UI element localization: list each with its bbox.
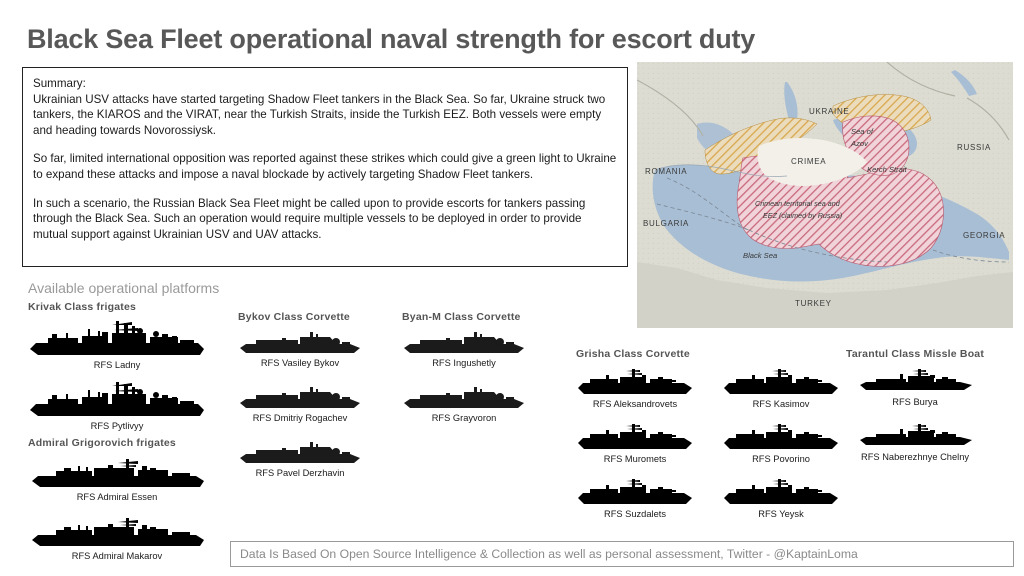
- ship-item: RFS Naberezhnye Chelny: [846, 421, 984, 462]
- map-label-crimea: CRIMEA: [791, 157, 826, 166]
- ship-item: RFS Admiral Makarov: [28, 514, 206, 561]
- group-title: Tarantul Class Missle Boat: [846, 348, 984, 360]
- frigate-silhouette-icon: [28, 455, 206, 491]
- map-label-ukraine: UKRAINE: [809, 107, 849, 116]
- ship-label: RFS Vasiley Bykov: [238, 358, 362, 368]
- ship-label: RFS Ladny: [28, 360, 206, 370]
- map-label-sea-of-azov: Sea of: [851, 127, 874, 136]
- corvette-silhouette-icon: [722, 421, 840, 453]
- ship-label: RFS Pavel Derzhavin: [238, 468, 362, 478]
- page-title: Black Sea Fleet operational naval streng…: [27, 24, 755, 55]
- ship-label: RFS Burya: [846, 397, 984, 407]
- missile-boat-silhouette-icon: [856, 366, 974, 396]
- ship-label: RFS Admiral Essen: [28, 492, 206, 502]
- missile-boat-silhouette-icon: [856, 421, 974, 451]
- ship-item: RFS Pavel Derzhavin: [238, 439, 362, 478]
- corvette-silhouette-icon: [402, 384, 526, 412]
- corvette-silhouette-icon: [722, 366, 840, 398]
- map-label-russia: RUSSIA: [957, 143, 991, 152]
- summary-heading: Summary:: [33, 76, 617, 92]
- ship-item: RFS Admiral Essen: [28, 455, 206, 502]
- ship-item: RFS Muromets: [576, 421, 694, 464]
- summary-paragraph-1: Ukrainian USV attacks have started targe…: [33, 92, 617, 139]
- summary-paragraph-2: So far, limited international opposition…: [33, 151, 617, 182]
- ship-label: RFS Muromets: [576, 454, 694, 464]
- ship-label: RFS Naberezhnye Chelny: [846, 452, 984, 462]
- group-title: Krivak Class frigates: [28, 301, 206, 313]
- ship-item: RFS Suzdalets: [576, 476, 694, 519]
- group-tarantul-class-missle-boat: Tarantul Class Missle Boat RFS Burya: [846, 348, 984, 462]
- ship-item: RFS Ingushetly: [402, 329, 526, 368]
- ship-label: RFS Pytlivyy: [28, 421, 206, 431]
- ship-item: RFS Yeysk: [722, 476, 840, 519]
- infographic-page: Black Sea Fleet operational naval streng…: [0, 0, 1024, 576]
- ship-label: RFS Suzdalets: [576, 509, 694, 519]
- map-label-georgia: GEORGIA: [963, 231, 1005, 240]
- summary-box: Summary: Ukrainian USV attacks have star…: [22, 67, 628, 267]
- corvette-silhouette-icon: [238, 439, 362, 467]
- grisha-column-right: RFS Kasimov: [722, 366, 840, 519]
- map-label-turkey: TURKEY: [795, 299, 832, 308]
- group-grisha-class-corvette: Grisha Class Corvette: [576, 348, 840, 519]
- frigate-silhouette-icon: [28, 319, 206, 359]
- ship-label: RFS Grayvoron: [402, 413, 526, 423]
- frigate-silhouette-icon: [28, 514, 206, 550]
- corvette-silhouette-icon: [576, 476, 694, 508]
- map-label-eez-line2: EEZ (claimed by Russia): [763, 211, 842, 220]
- corvette-silhouette-icon: [576, 421, 694, 453]
- ship-label: RFS Povorino: [722, 454, 840, 464]
- map-label-kerch-strait: Kerch Strait: [867, 165, 908, 174]
- corvette-silhouette-icon: [722, 476, 840, 508]
- ship-item: RFS Pytlivyy: [28, 380, 206, 431]
- frigate-silhouette-icon: [28, 380, 206, 420]
- group-title: Bykov Class Corvette: [238, 311, 362, 323]
- source-footer-text: Data Is Based On Open Source Intelligenc…: [240, 547, 858, 561]
- ship-item: RFS Kasimov: [722, 366, 840, 409]
- group-byan-m-class-corvette: Byan-M Class Corvette RFS Ingushetly: [402, 311, 526, 423]
- corvette-silhouette-icon: [238, 384, 362, 412]
- ship-label: RFS Dmitriy Rogachev: [238, 413, 362, 423]
- map-label-black-sea: Black Sea: [743, 251, 777, 260]
- group-bykov-class-corvette: Bykov Class Corvette RFS Vasiley Bykov: [238, 311, 362, 478]
- map-label-eez-line1: Crimean territorial sea and: [755, 199, 841, 208]
- ship-item: RFS Vasiley Bykov: [238, 329, 362, 368]
- map-label-sea-of-azov-2: Azov: [850, 139, 869, 148]
- ship-item: RFS Grayvoron: [402, 384, 526, 423]
- group-krivak-class-frigates: Krivak Class frigates: [28, 301, 206, 431]
- ship-label: RFS Kasimov: [722, 399, 840, 409]
- ship-label: RFS Admiral Makarov: [28, 551, 206, 561]
- black-sea-map: UKRAINE RUSSIA ROMANIA BULGARIA GEORGIA …: [637, 62, 1013, 328]
- platforms-heading: Available operational platforms: [28, 280, 219, 296]
- ship-item: RFS Povorino: [722, 421, 840, 464]
- group-title: Grisha Class Corvette: [576, 348, 840, 360]
- source-footer: Data Is Based On Open Source Intelligenc…: [230, 541, 1014, 567]
- ship-item: RFS Aleksandrovets: [576, 366, 694, 409]
- ship-label: RFS Ingushetly: [402, 358, 526, 368]
- map-label-bulgaria: BULGARIA: [643, 219, 689, 228]
- ship-item: RFS Dmitriy Rogachev: [238, 384, 362, 423]
- ship-label: RFS Aleksandrovets: [576, 399, 694, 409]
- ship-label: RFS Yeysk: [722, 509, 840, 519]
- corvette-silhouette-icon: [402, 329, 526, 357]
- group-title: Byan-M Class Corvette: [402, 311, 526, 323]
- group-title: Admiral Grigorovich frigates: [28, 437, 206, 449]
- grisha-column-left: RFS Aleksandrovets: [576, 366, 694, 519]
- corvette-silhouette-icon: [238, 329, 362, 357]
- map-graphic: UKRAINE RUSSIA ROMANIA BULGARIA GEORGIA …: [637, 62, 1013, 328]
- summary-paragraph-3: In such a scenario, the Russian Black Se…: [33, 196, 617, 243]
- ship-item: RFS Burya: [846, 366, 984, 407]
- map-label-romania: ROMANIA: [645, 167, 687, 176]
- ship-item: RFS Ladny: [28, 319, 206, 370]
- corvette-silhouette-icon: [576, 366, 694, 398]
- group-admiral-grigorovich-frigates: Admiral Grigorovich frigates RFS Admiral…: [28, 437, 206, 561]
